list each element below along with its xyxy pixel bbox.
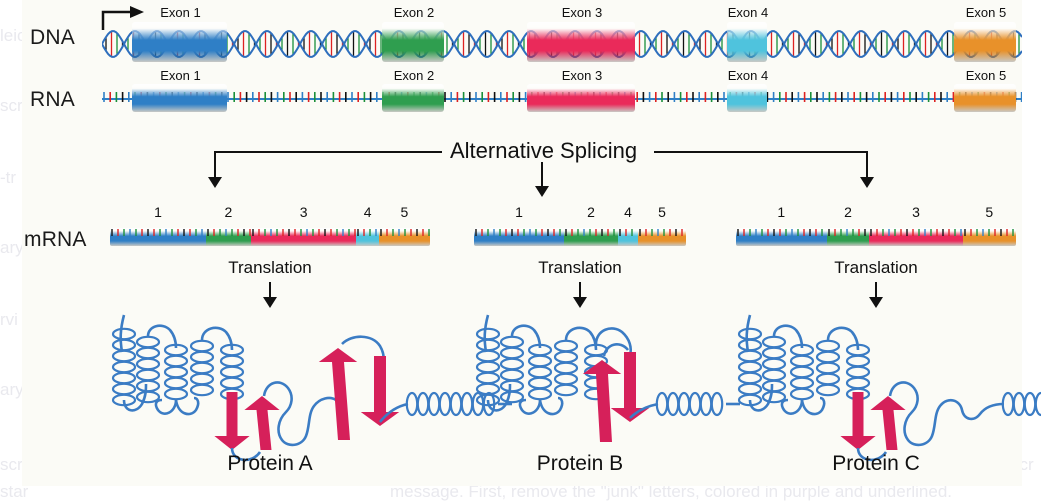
exon-highlight-2 bbox=[382, 84, 444, 112]
mrna-exon-number-5: 5 bbox=[963, 204, 1016, 220]
mrna-exon-number-2: 2 bbox=[827, 204, 870, 220]
background-text-fragment: -tr bbox=[0, 168, 16, 188]
exon-highlight-5 bbox=[954, 84, 1016, 112]
mrna-segment-exon-3 bbox=[869, 228, 962, 246]
exon-highlight-1 bbox=[132, 84, 227, 112]
alternative-splicing-label: Alternative Splicing bbox=[450, 138, 637, 164]
splice-bracket-left bbox=[214, 151, 442, 153]
protein-name-label: Protein B bbox=[510, 452, 650, 476]
exon-highlight-4 bbox=[727, 84, 767, 112]
mrna-exon-number-3: 3 bbox=[251, 204, 357, 220]
splice-arrow-middle-icon bbox=[535, 186, 549, 197]
row-label-mrna: mRNA bbox=[24, 228, 87, 252]
exon-label-1: Exon 1 bbox=[128, 68, 233, 83]
mrna-exon-number-4: 4 bbox=[356, 204, 378, 220]
row-label-dna: DNA bbox=[30, 26, 75, 50]
background-text-fragment: rvi bbox=[0, 310, 18, 330]
mrna-bar bbox=[110, 228, 430, 246]
exon-label-5: Exon 5 bbox=[950, 68, 1022, 83]
mrna-segment-exon-4 bbox=[618, 228, 638, 246]
exon-highlight-5 bbox=[954, 22, 1016, 62]
mrna-exon-number-1: 1 bbox=[736, 204, 827, 220]
splice-stem-left bbox=[214, 151, 216, 179]
translation-arrow-stem bbox=[579, 282, 581, 298]
splice-stem-middle bbox=[541, 162, 543, 188]
exon-highlight-1 bbox=[132, 22, 227, 62]
translation-label: Translation bbox=[831, 258, 921, 278]
alternative-splicing-figure: DNA RNA mRNA Exon 1Exon 2Exon 3Exon 4Exo… bbox=[22, 0, 1022, 486]
exon-label-5: Exon 5 bbox=[950, 5, 1022, 20]
protein-name-label: Protein C bbox=[806, 452, 946, 476]
splice-arrow-right-icon bbox=[860, 177, 874, 188]
exon-label-1: Exon 1 bbox=[128, 5, 233, 20]
exon-label-3: Exon 3 bbox=[523, 68, 641, 83]
mrna-exon-number-1: 1 bbox=[110, 204, 206, 220]
mrna-exon-number-4: 4 bbox=[618, 204, 638, 220]
mrna-segment-exon-5 bbox=[379, 228, 430, 246]
mrna-bar bbox=[736, 228, 1016, 246]
mrna-segment-exon-3 bbox=[251, 228, 357, 246]
exon-highlight-2 bbox=[382, 22, 444, 62]
mrna-segment-exon-5 bbox=[638, 228, 686, 246]
background-text-fragment: ary bbox=[0, 380, 24, 400]
exon-highlight-3 bbox=[527, 84, 635, 112]
mrna-exon-number-5: 5 bbox=[379, 204, 430, 220]
mrna-exon-number-2: 2 bbox=[206, 204, 251, 220]
mrna-segment-exon-1 bbox=[110, 228, 206, 246]
mrna-exon-number-5: 5 bbox=[638, 204, 686, 220]
mrna-bar bbox=[474, 228, 686, 246]
translation-label: Translation bbox=[225, 258, 315, 278]
background-text-fragment: scr bbox=[0, 455, 23, 475]
mrna-exon-number-3: 3 bbox=[869, 204, 962, 220]
splice-bracket-right bbox=[654, 151, 868, 153]
exon-highlight-3 bbox=[527, 22, 635, 62]
row-label-rna: RNA bbox=[30, 88, 75, 112]
exon-label-4: Exon 4 bbox=[723, 68, 773, 83]
mrna-segment-exon-4 bbox=[356, 228, 378, 246]
background-text-fragment: scr bbox=[0, 96, 23, 116]
mrna-exon-number-2: 2 bbox=[564, 204, 618, 220]
exon-label-4: Exon 4 bbox=[723, 5, 773, 20]
exon-highlight-4 bbox=[727, 22, 767, 62]
splice-arrow-left-icon bbox=[208, 177, 222, 188]
exon-label-2: Exon 2 bbox=[378, 68, 450, 83]
background-text-fragment: ary bbox=[0, 238, 24, 258]
protein-name-label: Protein A bbox=[200, 452, 340, 476]
translation-label: Translation bbox=[535, 258, 625, 278]
mrna-segment-exon-1 bbox=[736, 228, 827, 246]
splice-stem-right bbox=[866, 151, 868, 179]
mrna-segment-exon-1 bbox=[474, 228, 564, 246]
mrna-segment-exon-5 bbox=[963, 228, 1016, 246]
mrna-segment-exon-2 bbox=[564, 228, 618, 246]
exon-label-3: Exon 3 bbox=[523, 5, 641, 20]
translation-arrow-stem bbox=[875, 282, 877, 298]
mrna-segment-exon-2 bbox=[206, 228, 251, 246]
mrna-exon-number-1: 1 bbox=[474, 204, 564, 220]
mrna-segment-exon-2 bbox=[827, 228, 870, 246]
translation-arrow-stem bbox=[269, 282, 271, 298]
exon-label-2: Exon 2 bbox=[378, 5, 450, 20]
